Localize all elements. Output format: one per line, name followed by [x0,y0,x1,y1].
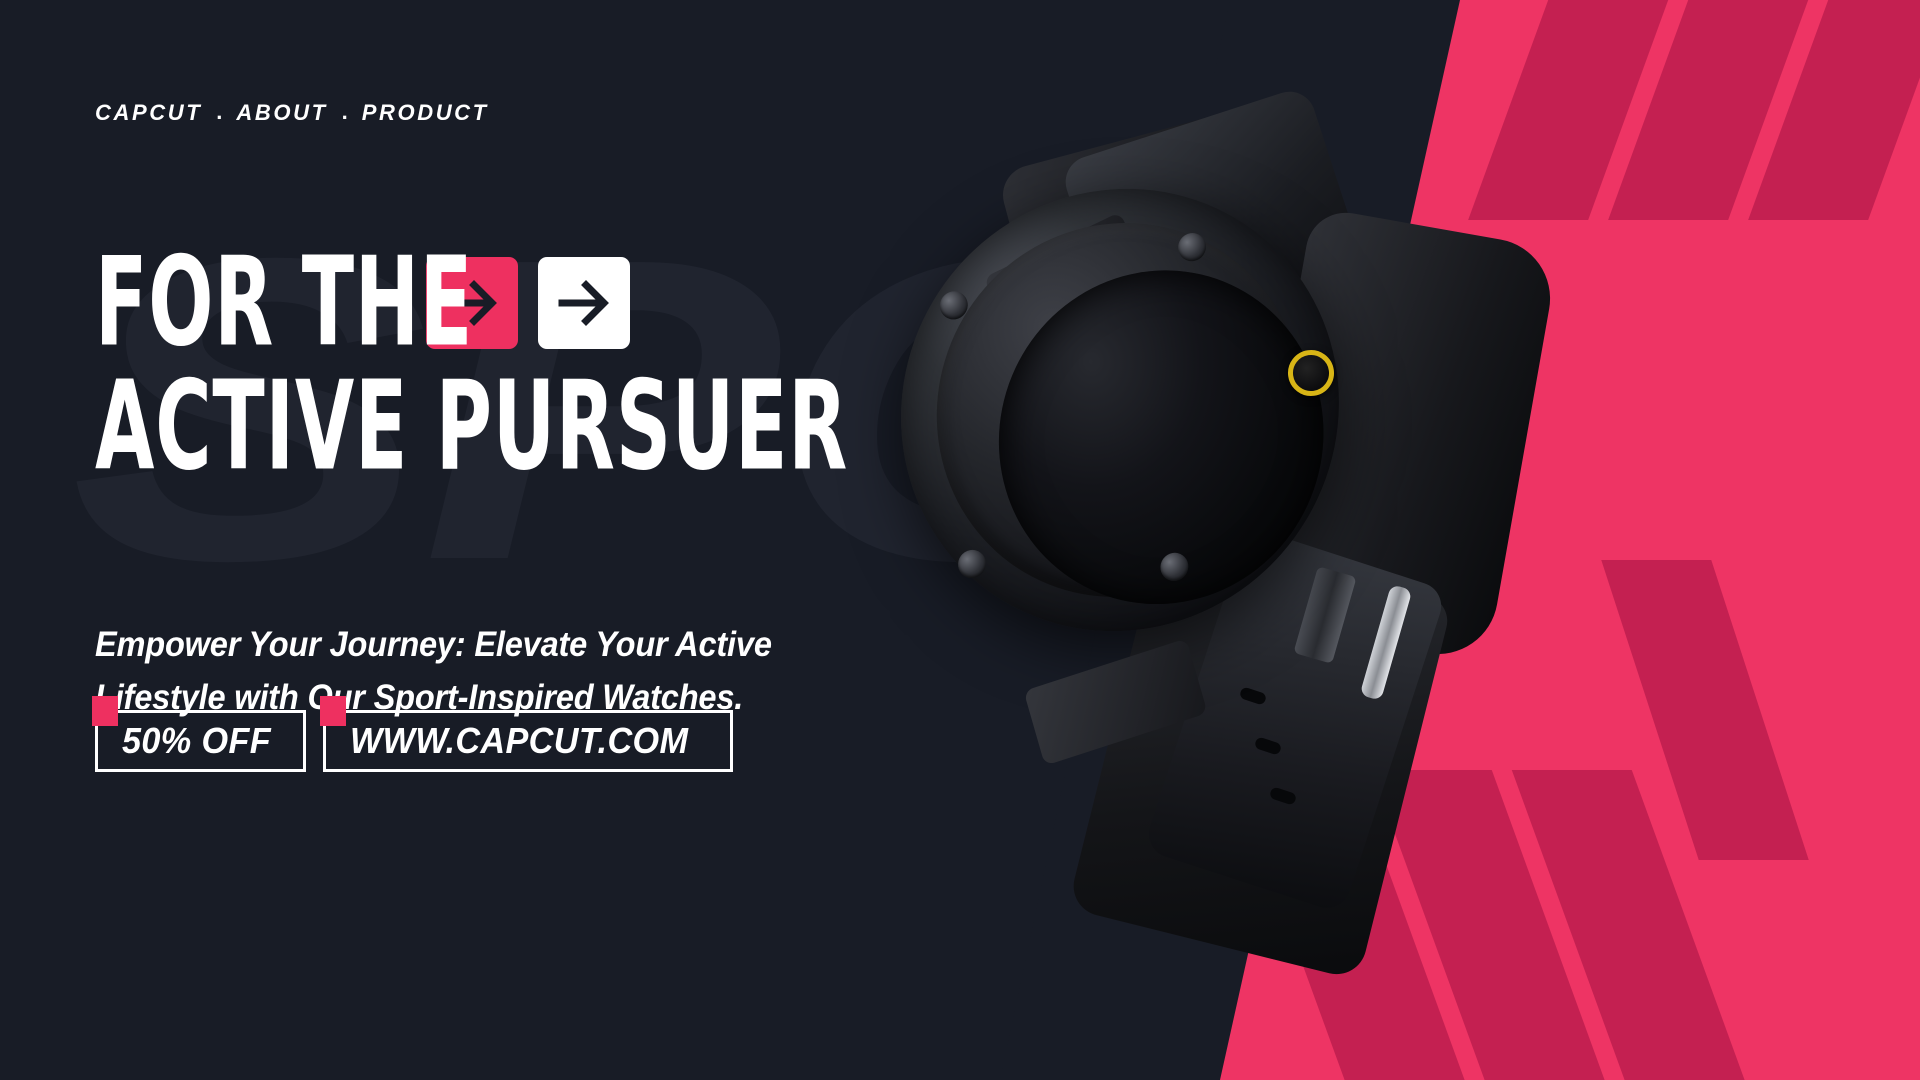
discount-badge-label: 50% OFF [122,720,271,762]
nav-item-about[interactable]: ABOUT [236,100,327,126]
headline-line1-row: FOR THE [95,252,1014,354]
subtitle-block: Empower Your Journey: Elevate Your Activ… [95,618,772,724]
arrow-right-icon-white[interactable] [538,257,630,349]
nav-separator: . [328,99,362,125]
product-image-smartwatch [880,120,1620,920]
promo-banner: SPO CAPCUT . ABOUT . PRODUCT [0,0,1920,1080]
headline-line2: ACTIVE PURSUER [95,367,848,487]
headline-line1: FOR THE [95,243,473,363]
badge-corner-square [320,696,346,726]
nav-item-capcut[interactable]: CAPCUT [95,100,202,126]
nav-item-product[interactable]: PRODUCT [362,100,489,126]
top-navigation: CAPCUT . ABOUT . PRODUCT [95,100,489,126]
discount-badge[interactable]: 50% OFF [95,710,306,772]
subtitle-line1: Empower Your Journey: Elevate Your Activ… [95,618,772,671]
website-badge-wrap: WWW.CAPCUT.COM [323,710,733,772]
badge-corner-square [92,696,118,726]
nav-separator: . [202,99,236,125]
headline-block: FOR THE ACTIVE PURSUER [95,252,1014,478]
bezel-screw [956,548,987,581]
badge-row: 50% OFF WWW.CAPCUT.COM [95,710,733,772]
website-badge[interactable]: WWW.CAPCUT.COM [323,710,733,772]
discount-badge-wrap: 50% OFF [95,710,306,772]
website-badge-label: WWW.CAPCUT.COM [350,720,688,762]
